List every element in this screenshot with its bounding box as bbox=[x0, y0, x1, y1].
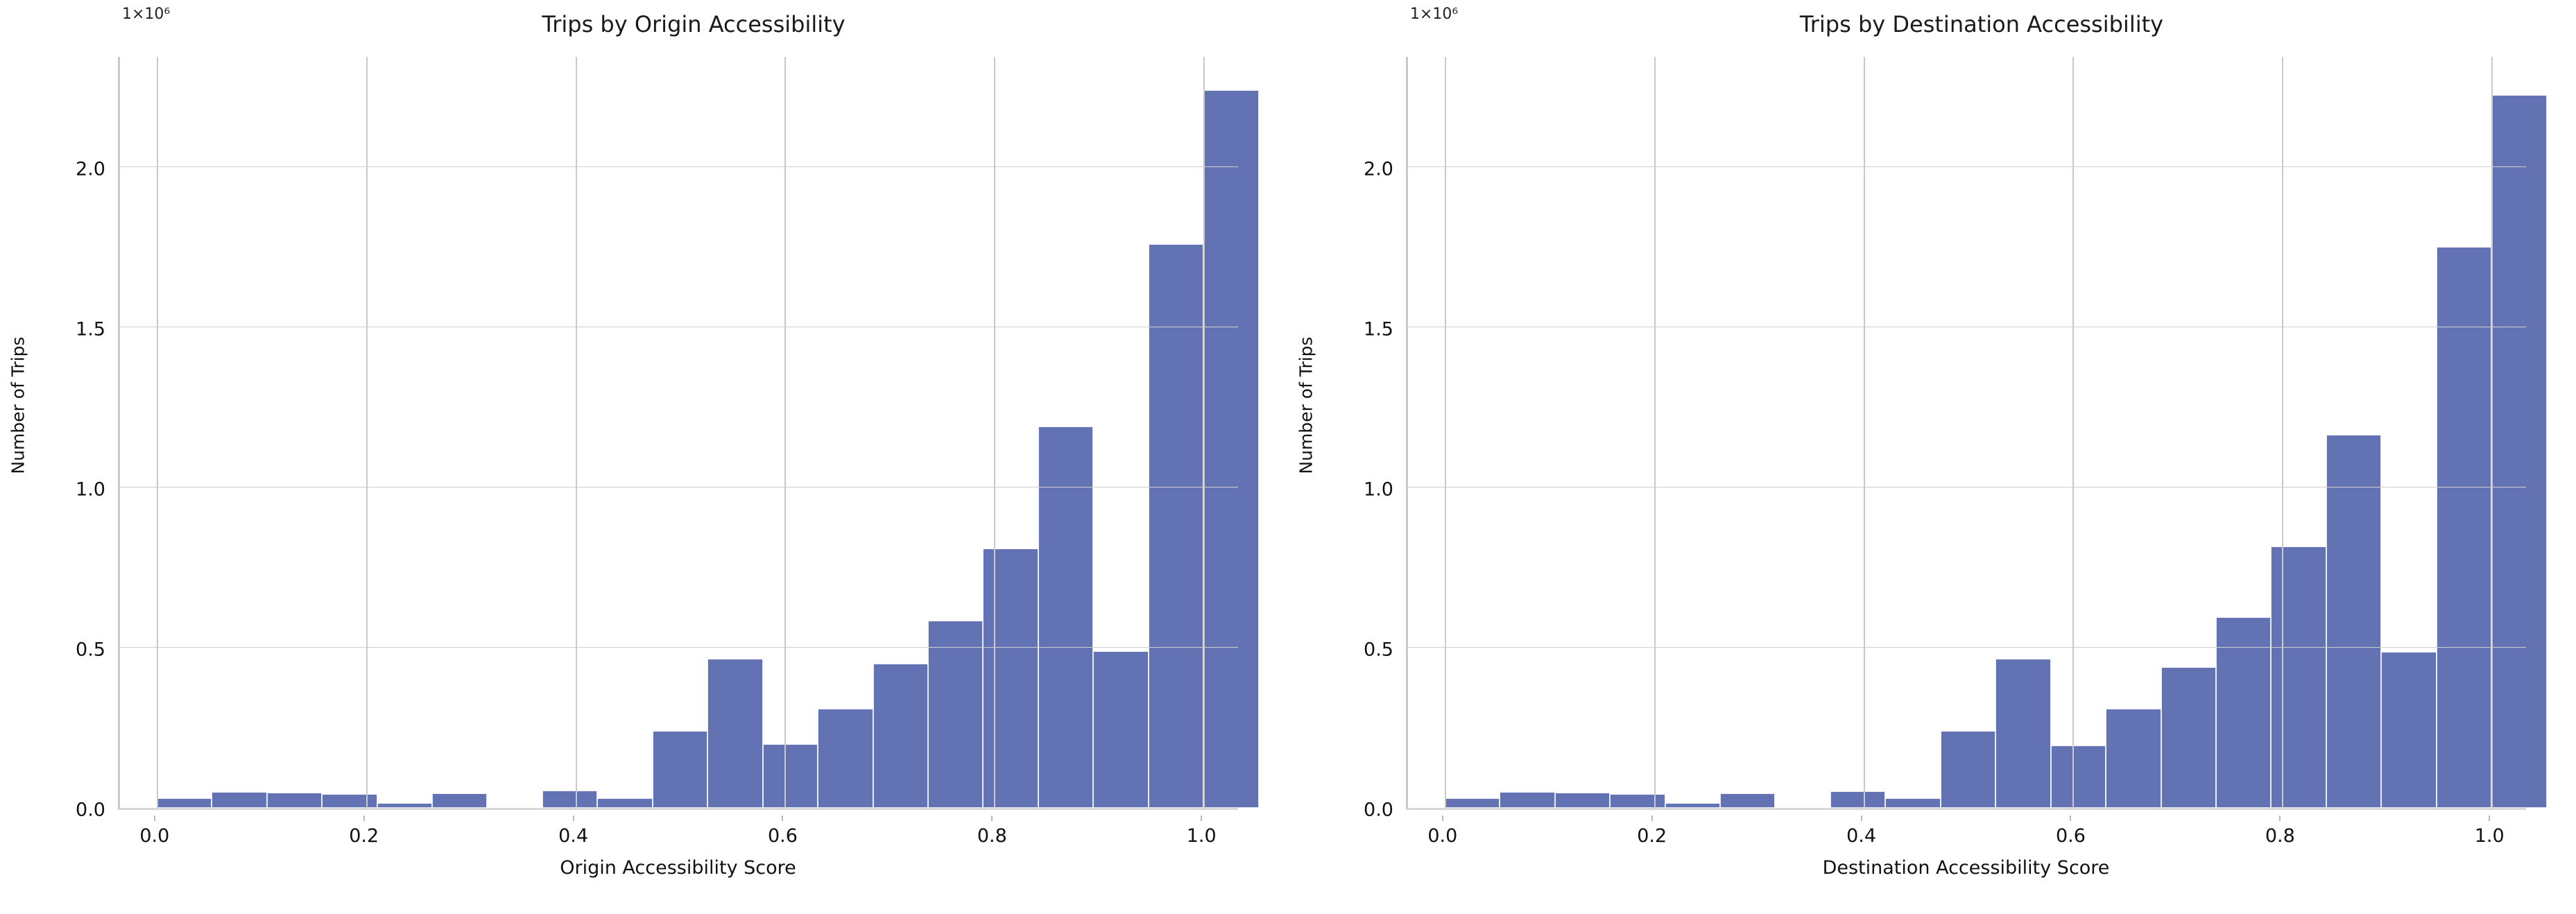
histogram-bar bbox=[2271, 546, 2326, 808]
x-axis-tick: 0.0 bbox=[113, 825, 196, 847]
x-axis-tick: 0.0 bbox=[1401, 825, 1484, 847]
x-axis-tick: 1.0 bbox=[2448, 825, 2531, 847]
histogram-bar bbox=[1941, 731, 1995, 808]
y-axis-tick: 1.0 bbox=[14, 478, 118, 500]
y-axis-tick: 1.5 bbox=[1302, 318, 1406, 340]
histogram-bar bbox=[322, 794, 377, 808]
plot-area bbox=[1406, 57, 2526, 810]
histogram-bar bbox=[2381, 652, 2437, 808]
gridline-vertical bbox=[157, 57, 158, 808]
figure-canvas: Number of Trips 1×10⁶ Trips by Origin Ac… bbox=[0, 0, 2576, 914]
histogram-bar bbox=[763, 744, 818, 808]
histogram-bar bbox=[1038, 426, 1093, 808]
histogram-bar bbox=[377, 803, 433, 808]
x-axis-tick: 0.6 bbox=[741, 825, 824, 847]
histogram-bar bbox=[653, 731, 707, 808]
histogram-bar bbox=[267, 793, 322, 808]
histogram-bar bbox=[1665, 803, 1721, 808]
histogram-bar bbox=[1885, 798, 1940, 808]
histogram-bar bbox=[1830, 791, 1886, 808]
x-axis-tickmark bbox=[1201, 816, 1202, 821]
gridline-vertical bbox=[1654, 57, 1656, 808]
gridline-vertical bbox=[366, 57, 368, 808]
histogram-bar bbox=[928, 621, 984, 808]
chart-panel-destination: Number of Trips 1×10⁶ Trips by Destinati… bbox=[1288, 0, 2576, 914]
histogram-bar bbox=[2161, 667, 2216, 808]
y-axis-tick: 0.0 bbox=[1302, 800, 1406, 821]
histogram-bar bbox=[1555, 793, 1610, 808]
x-axis-tick: 0.2 bbox=[1611, 825, 1694, 847]
x-axis-tickmark bbox=[2070, 816, 2071, 821]
y-axis-tick: 0.0 bbox=[14, 800, 118, 821]
x-axis-tickmark bbox=[1442, 816, 1443, 821]
y-axis-tick: 1.5 bbox=[14, 318, 118, 340]
y-axis-tick-labels: 0.00.51.01.52.0 bbox=[0, 57, 118, 810]
x-axis-tick-labels: 0.00.20.40.60.81.0 bbox=[118, 816, 1238, 846]
histogram-bar bbox=[2437, 247, 2491, 808]
histogram-bar bbox=[1995, 659, 2050, 808]
x-axis-label: Origin Accessibility Score bbox=[118, 857, 1238, 879]
gridline-vertical bbox=[576, 57, 577, 808]
histogram-bar bbox=[542, 791, 598, 808]
plot-area bbox=[118, 57, 1238, 810]
gridline-horizontal bbox=[120, 487, 1238, 488]
x-axis-tick: 0.6 bbox=[2029, 825, 2112, 847]
histogram-bar bbox=[212, 792, 267, 808]
histogram-bar bbox=[1445, 798, 1500, 808]
gridline-vertical bbox=[2491, 57, 2493, 808]
histogram-bar bbox=[707, 659, 762, 808]
x-axis-tick: 0.4 bbox=[1820, 825, 1903, 847]
y-axis-tick-labels: 0.00.51.01.52.0 bbox=[1288, 57, 1406, 810]
gridline-horizontal bbox=[1408, 327, 2526, 327]
histogram-bar bbox=[1093, 651, 1149, 808]
histogram-bar bbox=[2216, 617, 2272, 808]
y-axis-tick: 2.0 bbox=[1302, 158, 1406, 180]
histogram-bar bbox=[2491, 95, 2546, 808]
bar-series bbox=[1408, 57, 2526, 808]
histogram-bar bbox=[983, 549, 1038, 808]
x-axis-tick: 0.4 bbox=[532, 825, 615, 847]
chart-title: Trips by Origin Accessibility bbox=[118, 11, 1269, 37]
y-axis-tick: 2.0 bbox=[14, 158, 118, 180]
histogram-bar bbox=[1500, 792, 1555, 808]
gridline-vertical bbox=[2282, 57, 2283, 808]
y-axis-tick: 1.0 bbox=[1302, 478, 1406, 500]
histogram-bar bbox=[2326, 435, 2381, 808]
gridline-vertical bbox=[1864, 57, 1865, 808]
gridline-horizontal bbox=[1408, 166, 2526, 167]
histogram-bar bbox=[818, 709, 873, 808]
histogram-bar bbox=[1720, 793, 1775, 808]
x-axis-label: Destination Accessibility Score bbox=[1406, 857, 2526, 879]
gridline-vertical bbox=[784, 57, 786, 808]
x-axis-tickmark bbox=[2489, 816, 2490, 821]
gridline-vertical bbox=[994, 57, 995, 808]
x-axis-tickmark bbox=[1651, 816, 1653, 821]
histogram-bar bbox=[2051, 745, 2106, 808]
chart-title: Trips by Destination Accessibility bbox=[1406, 11, 2557, 37]
gridline-horizontal bbox=[1408, 487, 2526, 488]
x-axis-tick-labels: 0.00.20.40.60.81.0 bbox=[1406, 816, 2526, 846]
bar-series bbox=[120, 57, 1238, 808]
x-axis-tick: 0.8 bbox=[950, 825, 1033, 847]
x-axis-tickmark bbox=[363, 816, 365, 821]
gridline-horizontal bbox=[120, 647, 1238, 648]
histogram-bar bbox=[2106, 709, 2161, 808]
y-axis-tick: 0.5 bbox=[1302, 639, 1406, 660]
x-axis-tickmark bbox=[2279, 816, 2281, 821]
y-axis-tick: 0.5 bbox=[14, 639, 118, 660]
x-axis-tick: 1.0 bbox=[1160, 825, 1243, 847]
histogram-bar bbox=[597, 798, 652, 808]
x-axis-tickmark bbox=[991, 816, 993, 821]
gridline-horizontal bbox=[120, 166, 1238, 167]
histogram-bar bbox=[1149, 244, 1203, 808]
x-axis-tickmark bbox=[1861, 816, 1862, 821]
gridline-vertical bbox=[1203, 57, 1205, 808]
gridline-vertical bbox=[2072, 57, 2074, 808]
x-axis-tick: 0.8 bbox=[2238, 825, 2321, 847]
gridline-horizontal bbox=[120, 327, 1238, 327]
histogram-bar bbox=[873, 664, 928, 808]
x-axis-tickmark bbox=[573, 816, 574, 821]
chart-panel-origin: Number of Trips 1×10⁶ Trips by Origin Ac… bbox=[0, 0, 1288, 914]
histogram-bar bbox=[1203, 90, 1258, 808]
x-axis-tick: 0.2 bbox=[323, 825, 406, 847]
histogram-bar bbox=[432, 793, 487, 808]
gridline-vertical bbox=[1445, 57, 1446, 808]
histogram-bar bbox=[1610, 794, 1665, 808]
gridline-horizontal bbox=[1408, 647, 2526, 648]
histogram-bar bbox=[157, 798, 212, 808]
x-axis-tickmark bbox=[154, 816, 155, 821]
x-axis-tickmark bbox=[782, 816, 783, 821]
